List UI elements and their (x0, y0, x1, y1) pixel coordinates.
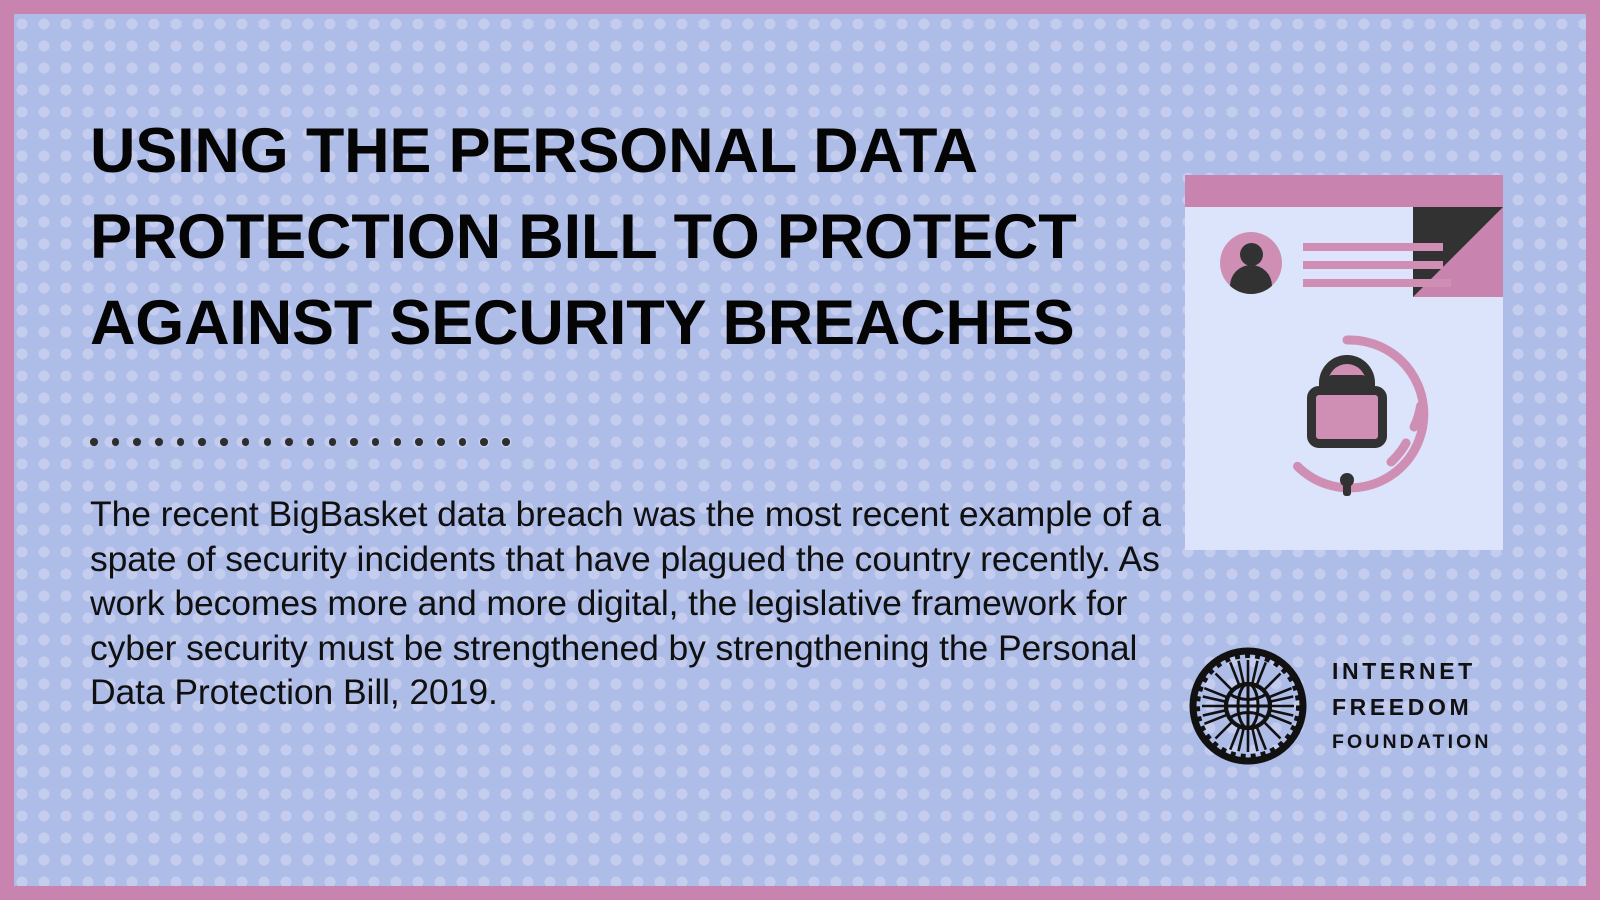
divider-dot (155, 438, 163, 446)
divider-dot (242, 438, 250, 446)
document-text-line (1303, 261, 1443, 269)
divider-dot (133, 438, 141, 446)
user-avatar-icon (1220, 232, 1282, 294)
divider-dot (90, 438, 98, 446)
lock-keyhole (1340, 473, 1354, 487)
divider-dot (350, 438, 358, 446)
divider-dot (264, 438, 272, 446)
avatar-shoulders (1230, 265, 1272, 294)
divider-dot (502, 438, 510, 446)
logo-line-1: INTERNET (1332, 653, 1492, 689)
poster-canvas: USING THE PERSONAL DATA PROTECTION BILL … (14, 14, 1586, 886)
divider-dot (372, 438, 380, 446)
chakra-globe-icon (1186, 644, 1310, 768)
organization-logo: INTERNET FREEDOM FOUNDATION (1186, 644, 1492, 768)
divider-dot (480, 438, 488, 446)
divider-dot (394, 438, 402, 446)
document-text-line (1303, 243, 1443, 251)
lock-body (1307, 386, 1387, 448)
divider-dot (415, 438, 423, 446)
divider-dot (307, 438, 315, 446)
document-illustration (1185, 175, 1503, 550)
lock-badge (1263, 330, 1431, 498)
dot-divider (90, 438, 510, 446)
divider-dot (459, 438, 467, 446)
logo-line-3: FOUNDATION (1332, 725, 1492, 759)
poster: USING THE PERSONAL DATA PROTECTION BILL … (0, 0, 1600, 900)
divider-dot (329, 438, 337, 446)
document-text-lines (1303, 243, 1443, 297)
divider-dot (112, 438, 120, 446)
document-header-band (1185, 175, 1503, 207)
divider-dot (437, 438, 445, 446)
divider-dot (177, 438, 185, 446)
logo-wordmark: INTERNET FREEDOM FOUNDATION (1332, 653, 1492, 759)
content-left-column: USING THE PERSONAL DATA PROTECTION BILL … (76, 14, 1166, 886)
divider-dot (220, 438, 228, 446)
body-paragraph: The recent BigBasket data breach was the… (90, 492, 1162, 715)
page-title: USING THE PERSONAL DATA PROTECTION BILL … (90, 108, 1170, 366)
document-text-line (1303, 279, 1451, 287)
divider-dot (285, 438, 293, 446)
logo-line-2: FREEDOM (1332, 689, 1492, 725)
avatar-head (1240, 243, 1263, 266)
divider-dot (198, 438, 206, 446)
